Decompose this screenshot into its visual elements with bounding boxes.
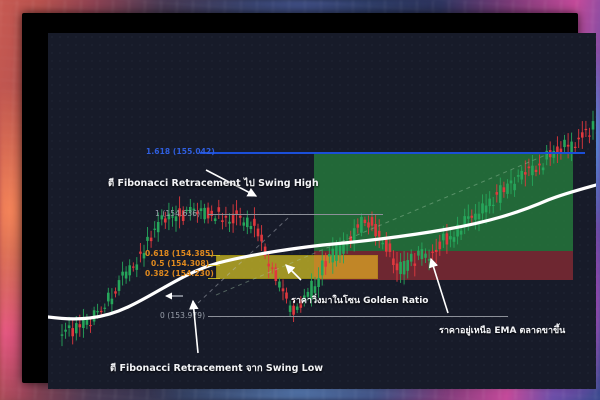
- annotation-swing-low: ตี Fibonacci Retracement จาก Swing Low: [110, 361, 323, 376]
- fib-label-0: 0 (153.979): [160, 311, 205, 320]
- screenshot-root: 1.618 (155.042) 1 (154.636) 0.618 (154.3…: [0, 0, 600, 400]
- chart-frame: 1.618 (155.042) 1 (154.636) 0.618 (154.3…: [22, 13, 578, 383]
- fib-line-0: [208, 316, 508, 317]
- fib-line-1618: [200, 152, 585, 154]
- fib-tick-05: [208, 265, 220, 266]
- fib-label-0618: 0.618 (154.385): [145, 249, 214, 258]
- fib-label-0382: 0.382 (154.230): [145, 269, 214, 278]
- fib-label-05: 0.5 (154.308): [151, 259, 209, 268]
- fib-label-1: 1 (154.636): [155, 209, 200, 218]
- annotation-golden-ratio: ราคาวิ่งมาในโซน Golden Ratio: [291, 293, 429, 307]
- fib-line-1: [208, 214, 383, 215]
- annotation-ema-trend: ราคาอยู่เหนือ EMA ตลาดขาขึ้น: [439, 323, 565, 337]
- fib-label-1618: 1.618 (155.042): [146, 147, 215, 156]
- fib-tick-0382: [208, 278, 220, 279]
- chart-panel[interactable]: 1.618 (155.042) 1 (154.636) 0.618 (154.3…: [48, 33, 596, 389]
- trend-guide-lower: [198, 218, 288, 303]
- annotation-swing-high: ตี Fibonacci Retracement ไป Swing High: [108, 176, 319, 191]
